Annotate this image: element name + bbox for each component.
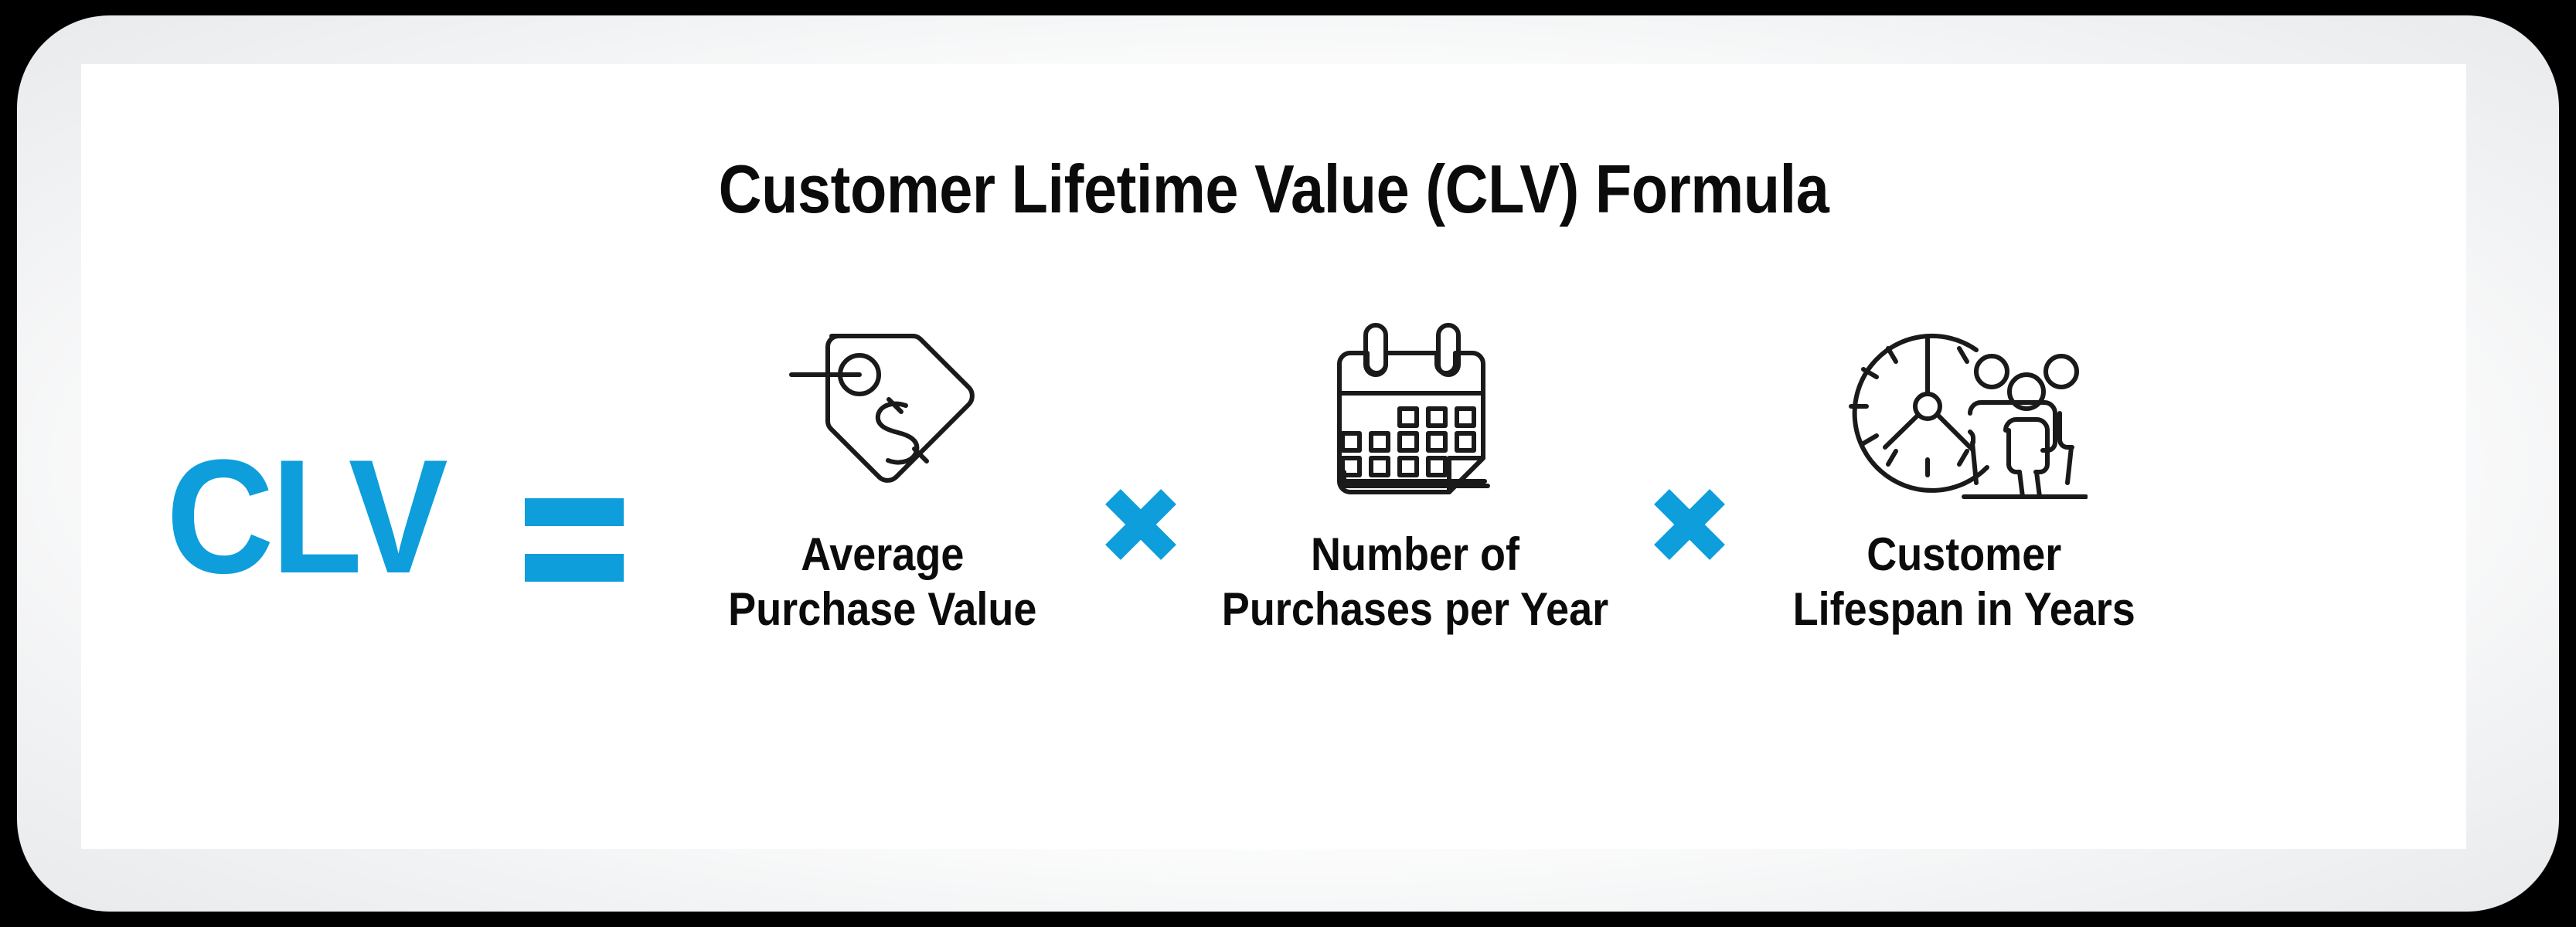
calendar-icon — [1322, 319, 1508, 501]
label-line-2: Purchase Value — [728, 582, 1036, 637]
equals-sign — [525, 498, 624, 582]
formula-row: CLV — [81, 319, 2466, 752]
label-line-1: Average — [801, 528, 964, 580]
equals-bar-top — [525, 498, 624, 526]
formula-term-label: Average Purchase Value — [728, 528, 1036, 637]
label-line-2: Purchases per Year — [1222, 582, 1608, 637]
formula-term-average-purchase-value: Average Purchase Value — [681, 319, 1083, 637]
formula-card: Customer Lifetime Value (CLV) Formula CL… — [81, 64, 2466, 849]
formula-term-customer-lifespan: Customer Lifespan in Years — [1747, 319, 2180, 637]
clock-people-icon — [1840, 319, 2088, 501]
multiply-operator-2 — [1632, 484, 1747, 565]
formula-term-number-of-purchases: Number of Purchases per Year — [1199, 319, 1632, 637]
formula-term-label: Number of Purchases per Year — [1222, 528, 1608, 637]
formula-result-label: CLV — [166, 450, 445, 583]
equals-bar-bottom — [525, 554, 624, 582]
label-line-2: Lifespan in Years — [1793, 582, 2135, 637]
page-title: Customer Lifetime Value (CLV) Formula — [224, 155, 2323, 223]
price-tag-dollar-icon — [785, 319, 978, 501]
formula-term-label: Customer Lifespan in Years — [1793, 528, 2135, 637]
label-line-1: Customer — [1866, 528, 2061, 580]
slide-stage: Customer Lifetime Value (CLV) Formula CL… — [0, 0, 2576, 927]
label-line-1: Number of — [1311, 528, 1519, 580]
multiply-operator-1 — [1083, 484, 1199, 565]
